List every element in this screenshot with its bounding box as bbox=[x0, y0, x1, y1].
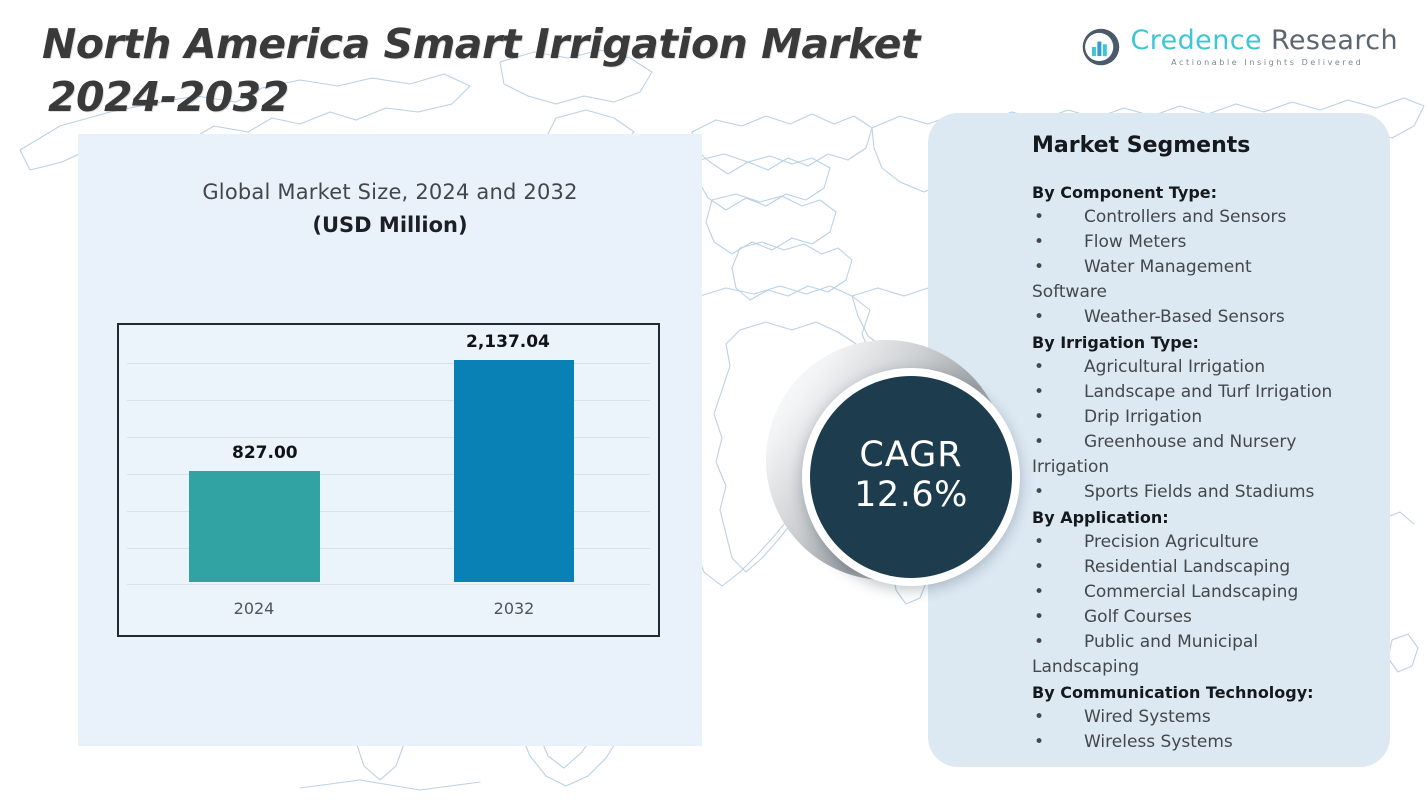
segment-list-item[interactable]: •Residential Landscaping bbox=[1032, 555, 1370, 580]
segment-group-heading: By Communication Technology: bbox=[1032, 680, 1370, 705]
segment-item-wrap: Software bbox=[1032, 280, 1370, 305]
brand-tagline: Actionable Insights Delivered bbox=[1130, 59, 1398, 67]
bullet-icon: • bbox=[1034, 605, 1044, 630]
segment-list-item[interactable]: •Wireless Systems bbox=[1032, 730, 1370, 755]
segment-group-communication-technology: By Communication Technology: •Wired Syst… bbox=[1032, 680, 1370, 755]
cagr-value: 12.6% bbox=[854, 474, 968, 518]
segment-item-label: Precision Agriculture bbox=[1084, 532, 1259, 552]
bullet-icon: • bbox=[1034, 230, 1044, 255]
bullet-icon: • bbox=[1034, 355, 1044, 380]
bullet-icon: • bbox=[1034, 580, 1044, 605]
segment-list-item[interactable]: •Landscape and Turf Irrigation bbox=[1032, 380, 1370, 405]
segment-list-item[interactable]: •Controllers and Sensors bbox=[1032, 205, 1370, 230]
segment-list-item[interactable]: •Water Management bbox=[1032, 255, 1370, 280]
segment-item-label: Commercial Landscaping bbox=[1084, 582, 1298, 602]
segment-list-item[interactable]: •Weather-Based Sensors bbox=[1032, 305, 1370, 330]
segment-list-item[interactable]: •Golf Courses bbox=[1032, 605, 1370, 630]
segment-item-label: Residential Landscaping bbox=[1084, 557, 1290, 577]
cagr-circle: CAGR 12.6% bbox=[810, 376, 1012, 578]
segment-item-label: Weather-Based Sensors bbox=[1084, 307, 1285, 327]
segment-item-label: Greenhouse and Nursery bbox=[1084, 432, 1296, 452]
segment-item-label: Public and Municipal bbox=[1084, 632, 1258, 652]
segment-group-heading: By Application: bbox=[1032, 505, 1370, 530]
segment-list-item[interactable]: •Drip Irrigation bbox=[1032, 405, 1370, 430]
bullet-icon: • bbox=[1034, 305, 1044, 330]
segment-item-wrap: Landscaping bbox=[1032, 655, 1370, 680]
segment-item-label: Sports Fields and Stadiums bbox=[1084, 482, 1314, 502]
bar-value-label-2024: 827.00 bbox=[232, 443, 298, 463]
page-title-line1: North America Smart Irrigation Market bbox=[42, 20, 920, 68]
segment-item-label: Agricultural Irrigation bbox=[1084, 357, 1265, 377]
segment-item-label: Golf Courses bbox=[1084, 607, 1192, 627]
segment-group-component-type: By Component Type: •Controllers and Sens… bbox=[1032, 180, 1370, 330]
segment-item-label: Landscape and Turf Irrigation bbox=[1084, 382, 1332, 402]
segment-group-irrigation-type: By Irrigation Type: •Agricultural Irriga… bbox=[1032, 330, 1370, 505]
page-title: North America Smart Irrigation Market 20… bbox=[42, 18, 942, 124]
bullet-icon: • bbox=[1034, 380, 1044, 405]
segment-list-item[interactable]: •Public and Municipal bbox=[1032, 630, 1370, 655]
bullet-icon: • bbox=[1034, 630, 1044, 655]
segment-group-heading: By Irrigation Type: bbox=[1032, 330, 1370, 355]
segment-list-item[interactable]: •Sports Fields and Stadiums bbox=[1032, 480, 1370, 505]
segment-list-item[interactable]: •Agricultural Irrigation bbox=[1032, 355, 1370, 380]
chart-heading-line1: Global Market Size, 2024 and 2032 bbox=[78, 180, 702, 204]
infographic-canvas: North America Smart Irrigation Market 20… bbox=[0, 0, 1428, 804]
cagr-label: CAGR bbox=[859, 437, 962, 474]
segment-list-item[interactable]: •Commercial Landscaping bbox=[1032, 580, 1370, 605]
segment-item-label: Wired Systems bbox=[1084, 707, 1211, 727]
segment-item-wrap: Irrigation bbox=[1032, 455, 1370, 480]
bullet-icon: • bbox=[1034, 730, 1044, 755]
bullet-icon: • bbox=[1034, 480, 1044, 505]
segment-group-heading: By Component Type: bbox=[1032, 180, 1370, 205]
segment-group-application: By Application: •Precision Agriculture •… bbox=[1032, 505, 1370, 680]
grid-line bbox=[127, 584, 650, 585]
segment-list-item[interactable]: •Flow Meters bbox=[1032, 230, 1370, 255]
brand-name-part1: Credence bbox=[1130, 25, 1262, 56]
segment-item-label: Water Management bbox=[1084, 257, 1252, 277]
segment-list-item[interactable]: •Precision Agriculture bbox=[1032, 530, 1370, 555]
segment-item-label: Controllers and Sensors bbox=[1084, 207, 1286, 227]
bar-2032[interactable] bbox=[454, 360, 574, 582]
chart-plot-area: 827.00 2,137.04 2024 2032 bbox=[119, 325, 658, 635]
cagr-badge: CAGR 12.6% bbox=[766, 340, 1024, 598]
bar-chart-circle-icon bbox=[1081, 27, 1121, 67]
market-segments-title: Market Segments bbox=[1032, 133, 1370, 158]
brand-name-part2: Research bbox=[1271, 25, 1398, 56]
segment-list-item[interactable]: •Greenhouse and Nursery bbox=[1032, 430, 1370, 455]
bullet-icon: • bbox=[1034, 430, 1044, 455]
segment-list-item[interactable]: •Wired Systems bbox=[1032, 705, 1370, 730]
segment-item-label: Drip Irrigation bbox=[1084, 407, 1202, 427]
bullet-icon: • bbox=[1034, 555, 1044, 580]
page-title-line2: 2024-2032 bbox=[42, 71, 942, 124]
chart-heading: Global Market Size, 2024 and 2032 (USD M… bbox=[78, 180, 702, 237]
x-axis-label-2032: 2032 bbox=[434, 599, 594, 618]
x-axis-label-2024: 2024 bbox=[174, 599, 334, 618]
bar-value-label-2032: 2,137.04 bbox=[466, 332, 550, 352]
brand-logo[interactable]: Credence Research Actionable Insights De… bbox=[1081, 27, 1398, 67]
bullet-icon: • bbox=[1034, 530, 1044, 555]
bullet-icon: • bbox=[1034, 405, 1044, 430]
segment-item-label: Flow Meters bbox=[1084, 232, 1186, 252]
brand-logo-text: Credence Research Actionable Insights De… bbox=[1130, 27, 1398, 67]
bullet-icon: • bbox=[1034, 255, 1044, 280]
bar-2024[interactable] bbox=[189, 471, 320, 582]
chart-heading-line2: (USD Million) bbox=[78, 213, 702, 237]
bullet-icon: • bbox=[1034, 705, 1044, 730]
segment-item-label: Wireless Systems bbox=[1084, 732, 1233, 752]
bar-chart: 827.00 2,137.04 2024 2032 bbox=[117, 323, 660, 637]
bullet-icon: • bbox=[1034, 205, 1044, 230]
